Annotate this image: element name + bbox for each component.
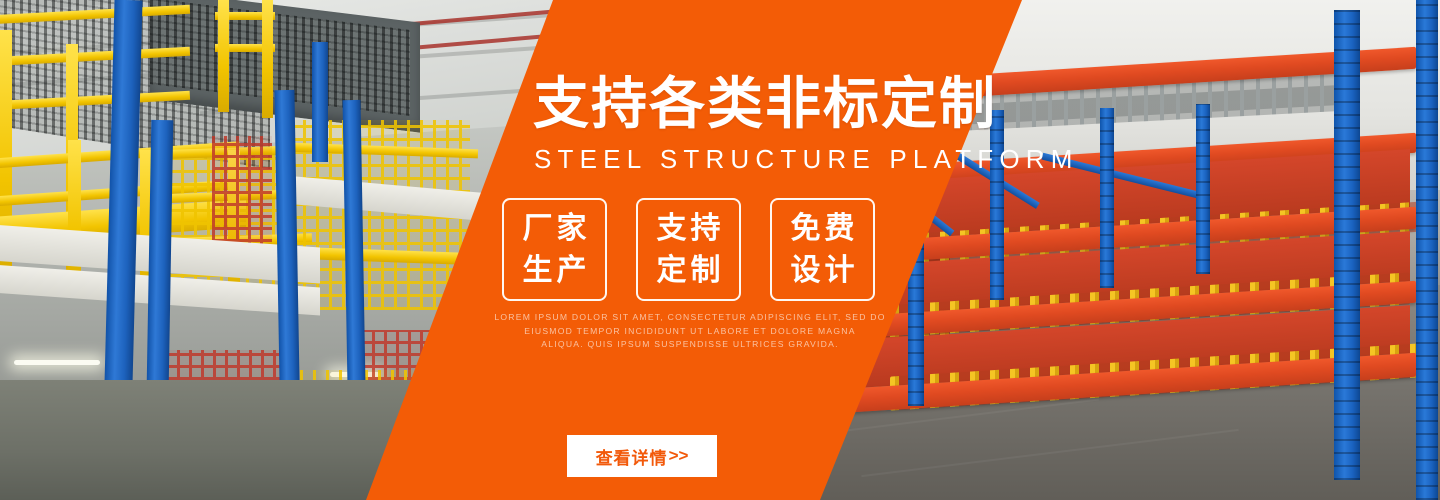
view-details-button[interactable]: 查看详情 >> bbox=[567, 435, 717, 477]
feature-badge-list: 厂家 生产 支持 定制 免费 设计 bbox=[502, 198, 875, 301]
banner-description: LOREM IPSUM DOLOR SIT AMET, CONSECTETUR … bbox=[430, 311, 950, 352]
description-line-2: EIUSMOD TEMPOR INCIDIDUNT UT LABORE ET D… bbox=[430, 325, 950, 339]
description-line-3: ALIQUA. QUIS IPSUM SUSPENDISSE ULTRICES … bbox=[430, 338, 950, 352]
view-details-label: 查看详情 bbox=[596, 444, 668, 469]
feature-badge-manufacturer: 厂家 生产 bbox=[502, 198, 607, 301]
feature-badge-customization: 支持 定制 bbox=[636, 198, 741, 301]
feature-badge-line2: 生产 bbox=[519, 250, 591, 292]
feature-badge-line1: 免费 bbox=[787, 208, 859, 250]
feature-badge-line1: 厂家 bbox=[519, 208, 591, 250]
banner-content: 支持各类非标定制 STEEL STRUCTURE PLATFORM 厂家 生产 … bbox=[0, 0, 1440, 500]
description-line-1: LOREM IPSUM DOLOR SIT AMET, CONSECTETUR … bbox=[430, 311, 950, 325]
chevron-right-double-icon: >> bbox=[669, 446, 689, 466]
feature-badge-line2: 定制 bbox=[653, 250, 725, 292]
banner-title: 支持各类非标定制 bbox=[533, 73, 997, 135]
feature-badge-line1: 支持 bbox=[653, 208, 725, 250]
banner-subtitle: STEEL STRUCTURE PLATFORM bbox=[534, 144, 1079, 174]
promo-banner: 支持各类非标定制 STEEL STRUCTURE PLATFORM 厂家 生产 … bbox=[0, 0, 1440, 500]
feature-badge-free-design: 免费 设计 bbox=[770, 198, 875, 301]
feature-badge-line2: 设计 bbox=[787, 250, 859, 292]
